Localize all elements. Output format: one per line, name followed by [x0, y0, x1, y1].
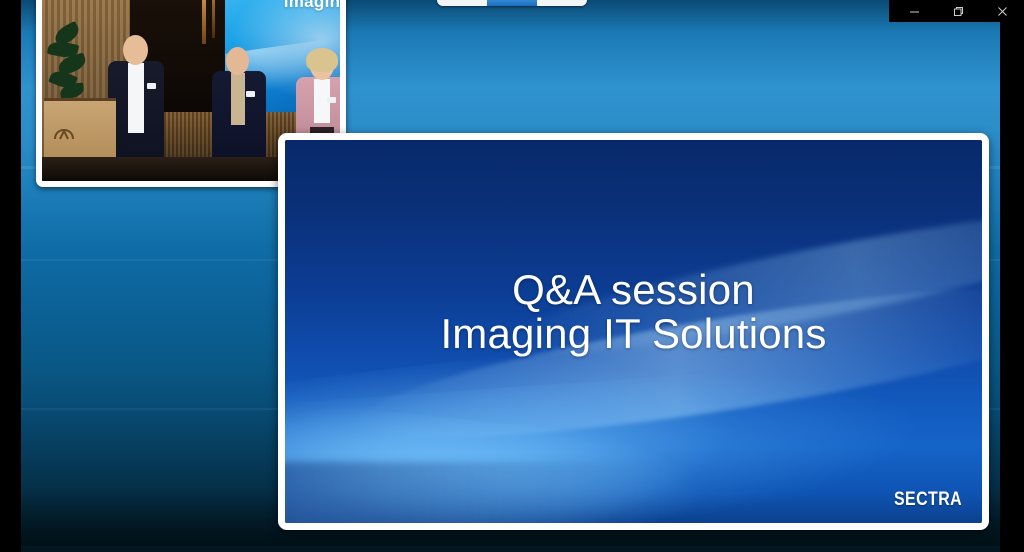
pill-segment-left[interactable]	[437, 0, 487, 6]
pill-segment-active[interactable]	[487, 0, 537, 6]
window-titlebar	[889, 0, 1024, 22]
floating-toolbar-pill[interactable]	[437, 0, 587, 6]
lectern-logo-icon	[52, 119, 78, 145]
stage-light-strip	[202, 0, 206, 44]
minimize-icon[interactable]	[892, 0, 936, 22]
presenter-center	[210, 47, 268, 175]
letterbox-bar-right	[1000, 0, 1024, 552]
screen-root: imaging	[0, 0, 1024, 552]
close-icon[interactable]	[980, 0, 1024, 22]
presentation-slide-frame[interactable]: Q&A session Imaging IT Solutions SECTRA	[278, 133, 989, 530]
sectra-logo: SECTRA	[894, 489, 962, 511]
letterbox-bar-left	[0, 0, 21, 552]
plant-decoration	[48, 22, 94, 100]
slide-title-line-2: Imaging IT Solutions	[285, 312, 982, 356]
presentation-slide: Q&A session Imaging IT Solutions SECTRA	[285, 140, 982, 523]
pill-segment-right[interactable]	[537, 0, 587, 6]
slide-wave	[285, 395, 778, 523]
slide-wave	[285, 462, 759, 523]
restore-icon[interactable]	[936, 0, 980, 22]
slide-title: Q&A session Imaging IT Solutions	[285, 268, 982, 355]
projector-screen-text: imaging	[284, 0, 340, 12]
slide-title-line-1: Q&A session	[512, 266, 755, 313]
slide-wave	[285, 348, 982, 523]
stage-light-strip	[212, 0, 215, 38]
